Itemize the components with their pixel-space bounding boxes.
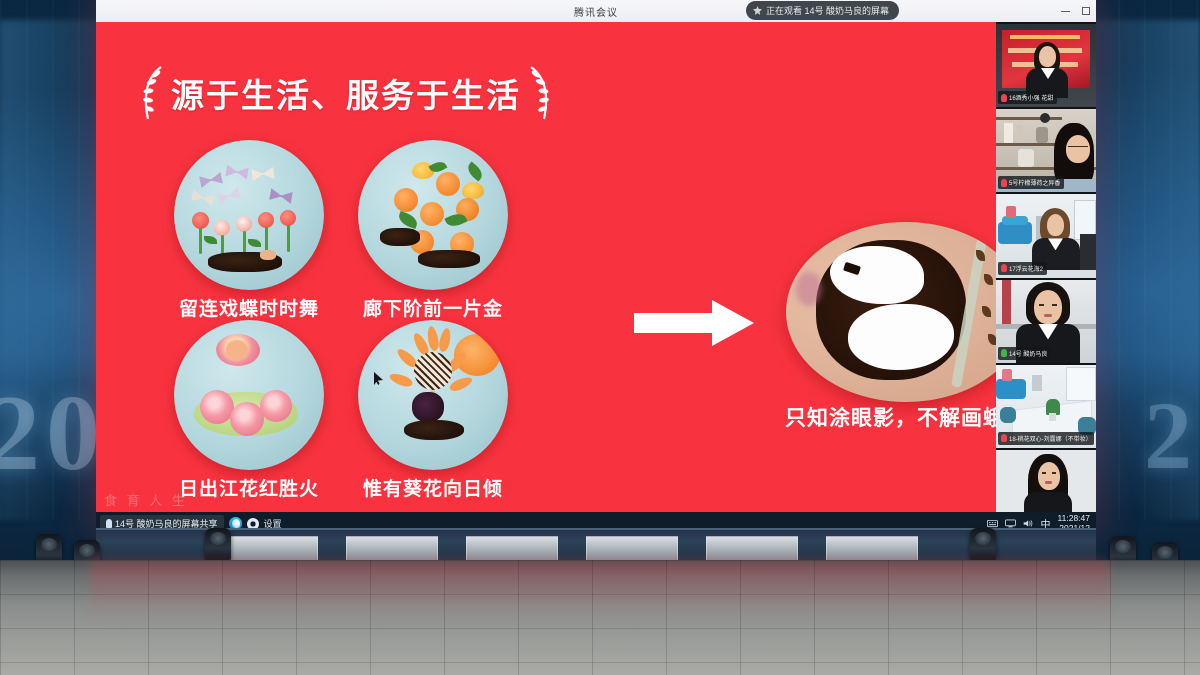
participant-video-rail[interactable]: 16酒秀小强 花甜 5号柠檬薄荷之异香	[996, 22, 1096, 535]
food-plate-1	[174, 140, 324, 290]
floor	[0, 560, 1200, 675]
participant-label: 17浮云花海2	[998, 262, 1047, 275]
now-viewing-badge: 正在观看 14号 酸奶马良的屏幕	[746, 1, 899, 20]
minimize-icon[interactable]	[1061, 11, 1070, 12]
window-titlebar: 腾讯会议 正在观看 14号 酸奶马良的屏幕	[96, 0, 1096, 22]
window-controls[interactable]	[1061, 0, 1090, 22]
slide-title: 源于生活、服务于生活	[171, 69, 521, 117]
food-plate-2	[358, 140, 508, 290]
right-arrow-icon	[634, 300, 754, 346]
mic-muted-icon	[1001, 179, 1007, 187]
participant-tile-2[interactable]: 5号柠檬薄荷之异香	[996, 109, 1096, 192]
maximize-icon[interactable]	[1082, 7, 1090, 15]
pin-icon	[753, 6, 762, 15]
now-viewing-label: 正在观看 14号 酸奶马良的屏幕	[766, 4, 889, 17]
participant-tile-4-presenter[interactable]: 14号 酸奶马良	[996, 280, 1096, 363]
plate-caption-1: 留连戏蝶时时舞	[144, 294, 354, 321]
slide-watermark: 食 育 人 生	[104, 490, 188, 509]
participant-tile-3[interactable]: 17浮云花海2	[996, 194, 1096, 277]
stage-light-4	[970, 528, 996, 562]
food-plate-4	[358, 320, 508, 470]
presentation-slide: 源于生活、服务于生活	[96, 22, 996, 512]
participant-label: 14号 酸奶马良	[998, 347, 1051, 360]
result-plate-image	[786, 222, 1026, 402]
microphone-icon	[106, 519, 112, 528]
participant-tile-5[interactable]: 18-桃花双心-刘露娜（不带妆）	[996, 365, 1096, 448]
floor-tiles	[0, 560, 1200, 675]
decor-numeral-left: 20	[0, 372, 106, 496]
laurel-right-icon	[527, 65, 553, 121]
participant-label: 18-桃花双心-刘露娜（不带妆）	[998, 432, 1094, 445]
laurel-left-icon	[139, 65, 165, 121]
decor-numeral-right: 2	[1144, 380, 1192, 491]
participant-label: 16酒秀小强 花甜	[998, 91, 1057, 104]
plate-caption-2: 廊下阶前一片金	[328, 294, 538, 321]
participant-label: 5号柠檬薄荷之异香	[998, 176, 1064, 189]
plate-caption-4: 惟有葵花向日倾	[328, 474, 538, 501]
participant-tile-1[interactable]: 16酒秀小强 花甜	[996, 24, 1096, 107]
mic-muted-icon	[1001, 264, 1007, 272]
slide-title-block: 源于生活、服务于生活	[136, 62, 556, 124]
led-wall-screen: 腾讯会议 正在观看 14号 酸奶马良的屏幕	[96, 0, 1096, 535]
food-plate-3	[174, 320, 324, 470]
mic-active-icon	[1001, 349, 1007, 357]
mic-muted-icon	[1001, 434, 1007, 442]
mic-muted-icon	[1001, 94, 1007, 102]
app-title: 腾讯会议	[574, 4, 618, 19]
stage-light-3	[205, 528, 231, 562]
